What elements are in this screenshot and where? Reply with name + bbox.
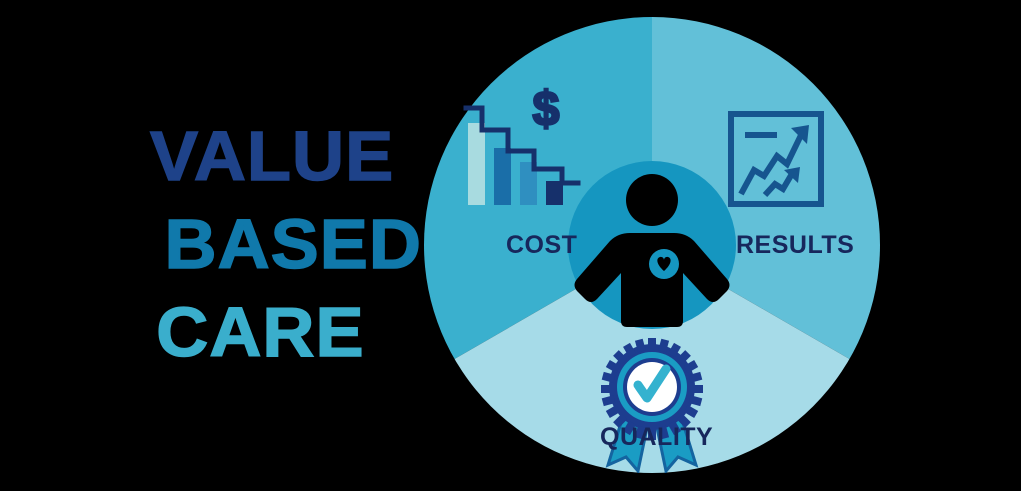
cost-bar-2 bbox=[494, 148, 511, 205]
title-line-care: CARE bbox=[148, 288, 426, 376]
title-line-value: VALUE bbox=[148, 112, 426, 200]
wheel-svg: $ bbox=[424, 17, 880, 473]
title-line-based: BASED bbox=[148, 200, 426, 288]
svg-text:$: $ bbox=[533, 83, 560, 136]
infographic-canvas: VALUE BASED CARE bbox=[0, 0, 1021, 491]
cost-bar-1 bbox=[468, 123, 485, 205]
value-based-care-wheel: $ bbox=[424, 17, 880, 473]
person-with-heart-icon[interactable] bbox=[568, 161, 736, 329]
segment-label-results: RESULTS bbox=[736, 231, 854, 259]
page-title: VALUE BASED CARE bbox=[148, 112, 418, 376]
dollar-sign-icon: $ bbox=[533, 83, 560, 136]
segment-label-cost: COST bbox=[506, 231, 577, 259]
segment-label-quality: QUALITY bbox=[600, 423, 713, 451]
person-head bbox=[626, 174, 678, 226]
